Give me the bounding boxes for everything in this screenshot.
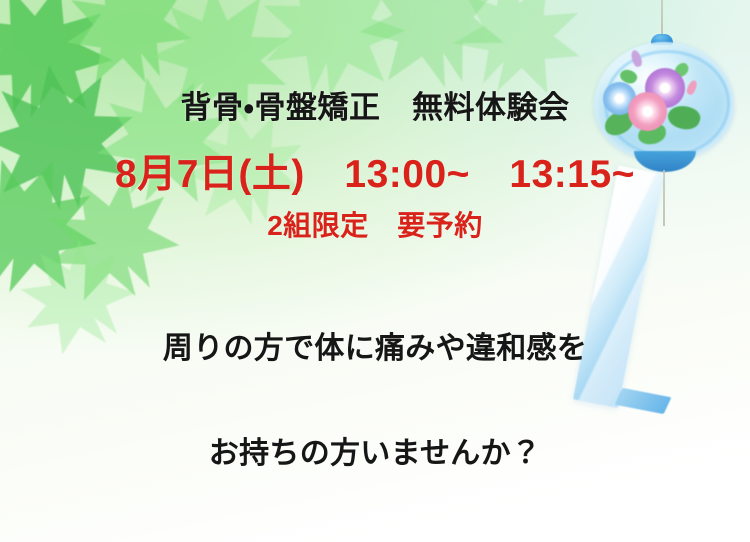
flyer-date-line: 8月7日(土) 13:00~ 13:15~	[0, 155, 750, 194]
flyer-body-line: 是非、この機会にお体チェック	[0, 538, 750, 542]
flyer-body-line: 周りの方で体に痛みや違和感を	[0, 328, 750, 373]
flyer-canvas: 背骨・骨盤矯正 無料体験会 8月7日(土) 13:00~ 13:15~ 2組限定…	[0, 0, 750, 542]
flyer-body: 周りの方で体に痛みや違和感を お持ちの方いませんか？ 是非、この機会にお体チェッ…	[0, 268, 750, 542]
flyer-copy: 背骨・骨盤矯正 無料体験会 8月7日(土) 13:00~ 13:15~ 2組限定…	[0, 0, 750, 542]
flyer-title: 背骨・骨盤矯正 無料体験会	[0, 92, 750, 123]
flyer-limit-line: 2組限定 要予約	[0, 212, 750, 240]
flyer-body-line: お持ちの方いませんか？	[0, 433, 750, 478]
